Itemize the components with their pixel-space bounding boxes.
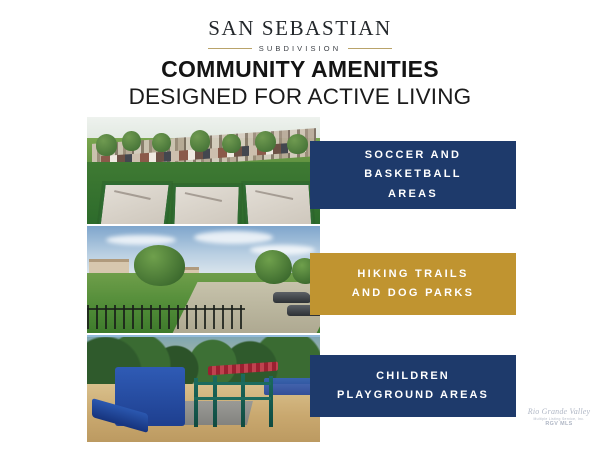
mls-watermark: Rio Grande Valley Multiple Listing Servi… [524,408,594,427]
headline-secondary: DESIGNED FOR ACTIVE LIVING [0,85,600,109]
tree-icon [122,131,141,151]
car [273,292,310,303]
play-bar [194,397,271,400]
headline-primary: COMMUNITY AMENITIES [0,57,600,82]
tree-icon [96,134,117,155]
amenity-image-trails [87,226,320,333]
watermark-script: Rio Grande Valley [524,408,594,417]
fence [87,305,245,329]
tree-icon [190,130,211,152]
brand-name: SAN SEBASTIAN [0,18,600,39]
amenity-label-playground: CHILDREN PLAYGROUND AREAS [310,355,516,417]
amenity-image-sports [87,117,320,224]
brand-subtitle: SUBDIVISION [259,45,341,53]
cloud [106,235,176,246]
sports-court [172,185,241,224]
brand-subtitle-row: SUBDIVISION [0,45,600,53]
sports-court [98,183,171,224]
tree-icon [134,245,185,286]
amenity-label-sports: SOCCER AND BASKETBALL AREAS [310,141,516,209]
tree-icon [222,134,241,153]
tree-icon [255,250,292,284]
watermark-mls: RGV MLS [524,422,594,427]
amenity-label-text: CHILDREN PLAYGROUND AREAS [331,367,495,406]
headline-group: COMMUNITY AMENITIES DESIGNED FOR ACTIVE … [0,57,600,109]
tree-icon [152,133,171,152]
park-render [87,226,320,333]
amenity-image-playground [87,335,320,442]
amenity-label-trails: HIKING TRAILS AND DOG PARKS [310,253,516,315]
play-bar [194,382,271,385]
brand-header: SAN SEBASTIAN SUBDIVISION [0,18,600,53]
amenity-label-text: SOCCER AND BASKETBALL AREAS [358,146,468,204]
play-post [194,378,198,427]
sports-court [244,183,314,224]
playground-photo [87,335,320,442]
amenity-label-text: HIKING TRAILS AND DOG PARKS [346,265,481,304]
sports-render [87,117,320,224]
tree-icon [255,131,276,152]
brand-rule-right [348,48,392,49]
brand-rule-left [208,48,252,49]
